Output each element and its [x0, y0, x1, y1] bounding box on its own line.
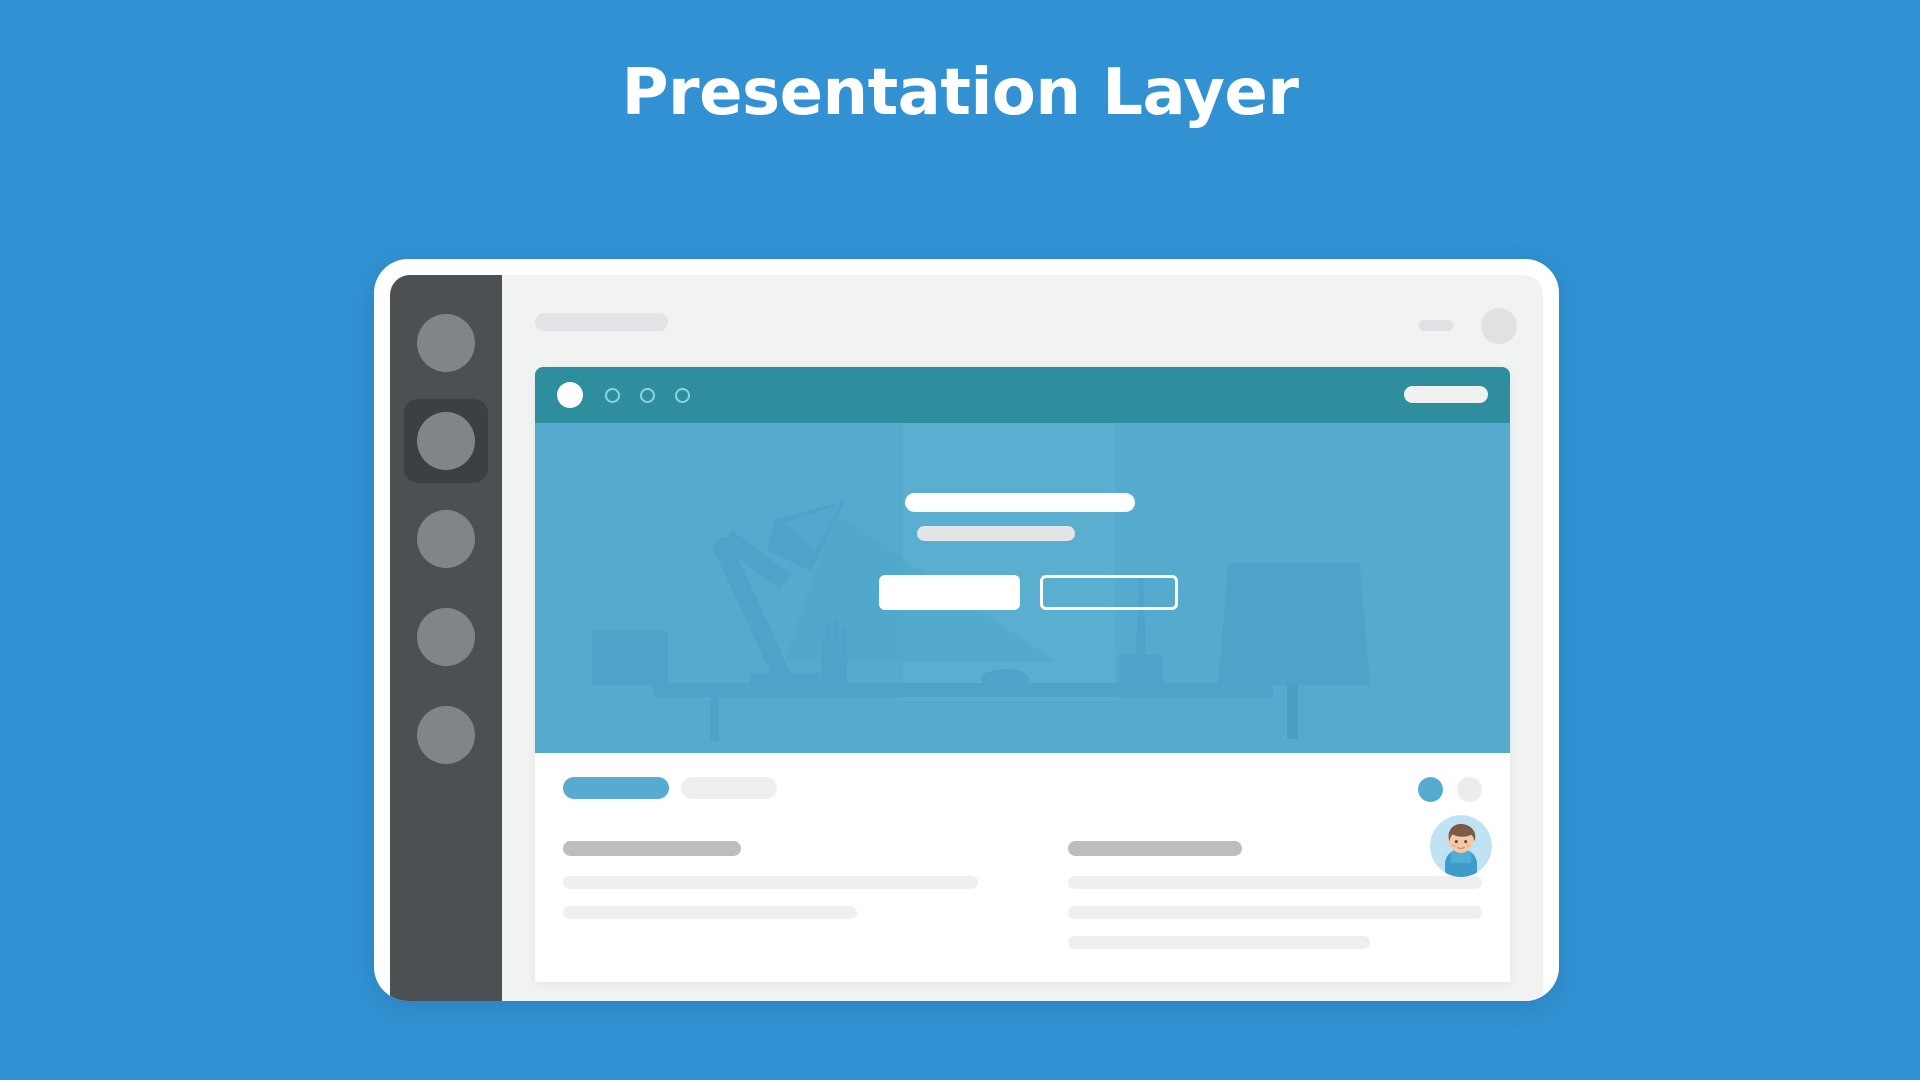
nav-cta-button[interactable]: [1404, 386, 1488, 403]
left-column: [563, 841, 978, 966]
breadcrumb: [535, 313, 668, 331]
hero-subheadline: [917, 526, 1075, 541]
sidebar-icon-3: [417, 510, 475, 568]
right-column-line-3: [1068, 936, 1371, 949]
tabs-row: [563, 777, 1482, 799]
site-navbar: [535, 367, 1510, 423]
right-column-line-2: [1068, 906, 1483, 919]
sidebar-icon-5: [417, 706, 475, 764]
hero-buttons: [879, 575, 1189, 610]
left-column-line-1: [563, 876, 978, 889]
hero-section: [535, 423, 1510, 753]
app-sidebar: [390, 275, 502, 1001]
left-column-heading: [563, 841, 741, 856]
device-frame: [374, 259, 1559, 1001]
hero-headline: [905, 493, 1135, 512]
sidebar-icon-2: [417, 412, 475, 470]
browser-content: [535, 753, 1510, 982]
sidebar-item-1[interactable]: [404, 301, 488, 385]
hero-secondary-button[interactable]: [1040, 575, 1178, 610]
nav-links: [605, 388, 690, 403]
brand-logo-icon[interactable]: [557, 382, 583, 408]
avatar-icon[interactable]: [1481, 308, 1517, 344]
tab-two[interactable]: [681, 777, 777, 799]
hero-primary-button[interactable]: [879, 575, 1020, 610]
sidebar-icon-4: [417, 608, 475, 666]
nav-dot-2-icon[interactable]: [640, 388, 655, 403]
app-main: [502, 275, 1543, 1001]
app-topbar: [502, 275, 1543, 367]
right-column: [1068, 841, 1483, 966]
user-avatar-illustration: [1430, 815, 1492, 877]
sidebar-item-4[interactable]: [404, 595, 488, 679]
sidebar-icon-1: [417, 314, 475, 372]
page-title: Presentation Layer: [0, 58, 1920, 128]
page-dot-2[interactable]: [1457, 777, 1482, 802]
hero-content: [879, 493, 1189, 610]
sidebar-item-5[interactable]: [404, 693, 488, 777]
nav-dot-1-icon[interactable]: [605, 388, 620, 403]
browser-window: [535, 367, 1510, 982]
tab-one[interactable]: [563, 777, 669, 799]
sidebar-item-3[interactable]: [404, 497, 488, 581]
device-screen: [390, 275, 1543, 1001]
nav-dot-3-icon[interactable]: [675, 388, 690, 403]
user-avatar[interactable]: [1430, 815, 1492, 877]
sidebar-item-2[interactable]: [404, 399, 488, 483]
right-column-line-1: [1068, 876, 1483, 889]
pagination-dots: [1418, 777, 1482, 802]
page-dot-1[interactable]: [1418, 777, 1443, 802]
content-columns: [563, 841, 1482, 966]
right-column-heading: [1068, 841, 1242, 856]
left-column-line-2: [563, 906, 857, 919]
minimize-icon[interactable]: [1419, 320, 1453, 331]
